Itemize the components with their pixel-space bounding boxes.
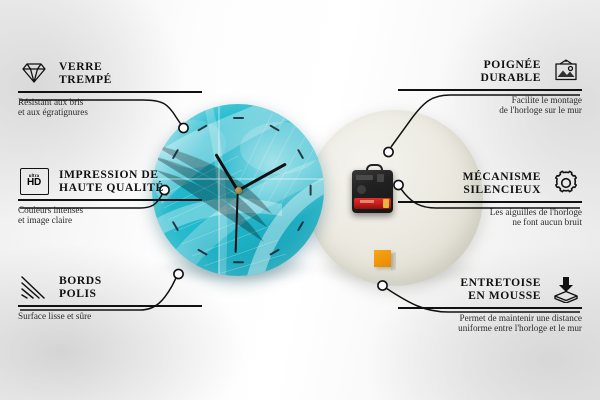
feature-title-line2: POLIS [59,287,97,300]
feature-bords-polis: BORDS POLIS Surface lisse et sûre [18,272,202,321]
feature-description: Permet de maintenir une distance uniform… [398,313,582,334]
feature-title: BORDS POLIS [59,274,202,300]
feature-header: ultra HD IMPRESSION DE HAUTE QUALITÉ [18,166,202,196]
feature-title: MÉCANISME SILENCIEUX [398,170,541,196]
feature-desc-line1: Surface lisse et sûre [18,311,91,321]
feature-desc-line2: uniforme entre l'horloge et le mur [458,323,582,333]
ultra-hd-icon: ultra HD [18,166,50,196]
feature-header: VERRE TREMPÉ [18,58,202,88]
feature-rule [18,91,202,93]
feature-title-line1: BORDS [59,274,102,287]
feature-title: ENTRETOISE EN MOUSSE [398,276,541,302]
feature-title: IMPRESSION DE HAUTE QUALITÉ [59,168,202,194]
feature-desc-line2: de l'horloge sur le mur [499,105,582,115]
connector-dot-6 [378,281,387,290]
feature-desc-line2: ne font aucun bruit [512,217,582,227]
feature-title-line1: IMPRESSION DE [59,168,159,181]
ultra-hd-badge-main: HD [27,178,41,188]
feature-desc-line1: Les aiguilles de l'horloge [490,207,582,217]
feature-title-line1: VERRE [59,60,102,73]
feature-description: Couleurs intenses et image claire [18,205,202,226]
feature-title-line2: TREMPÉ [59,73,112,86]
feature-rule [398,89,582,91]
feature-desc-line2: et aux égratignures [18,107,88,117]
connector-dot-4 [384,147,393,156]
feature-title-line1: POIGNÉE [484,58,541,71]
feature-desc-line1: Couleurs intenses [18,205,83,215]
feature-desc-line1: Permet de maintenir une distance [460,313,582,323]
feature-desc-line1: Facilite le montage [512,95,582,105]
feature-title-line2: HAUTE QUALITÉ [59,181,164,194]
feature-description: Facilite le montage de l'horloge sur le … [398,95,582,116]
feature-mecanisme-silencieux: MÉCANISME SILENCIEUX Les aiguilles de l'… [398,168,582,228]
feature-rule [18,199,202,201]
feature-title-line1: MÉCANISME [463,170,541,183]
feature-header: BORDS POLIS [18,272,202,302]
feature-desc-line1: Résistant aux bris [18,97,83,107]
feature-title-line2: DURABLE [480,71,541,84]
feature-impression-haute-qualite: ultra HD IMPRESSION DE HAUTE QUALITÉ Cou… [18,166,202,226]
ultra-hd-badge: ultra HD [20,168,49,195]
gear-icon [550,168,582,198]
feature-description: Surface lisse et sûre [18,311,202,322]
feature-rule [398,307,582,309]
feature-rule [398,201,582,203]
polished-edge-icon [18,272,50,302]
diamond-icon [18,58,50,88]
connector-dot-1 [179,123,188,132]
feature-title-line1: ENTRETOISE [460,276,541,289]
feature-header: ENTRETOISE EN MOUSSE [398,274,582,304]
feature-title: POIGNÉE DURABLE [398,58,541,84]
feature-title-line2: EN MOUSSE [468,289,541,302]
feature-header: MÉCANISME SILENCIEUX [398,168,582,198]
feature-description: Résistant aux bris et aux égratignures [18,97,202,118]
feature-header: POIGNÉE DURABLE [398,56,582,86]
feature-verre-trempe: VERRE TREMPÉ Résistant aux bris et aux é… [18,58,202,118]
feature-description: Les aiguilles de l'horloge ne font aucun… [398,207,582,228]
feature-desc-line2: et image claire [18,215,72,225]
feature-entretoise-en-mousse: ENTRETOISE EN MOUSSE Permet de maintenir… [398,274,582,334]
foam-spacer-icon [550,274,582,304]
hanging-frame-icon [550,56,582,86]
product-infographic: VERRE TREMPÉ Résistant aux bris et aux é… [0,0,600,400]
feature-rule [18,305,202,307]
feature-title: VERRE TREMPÉ [59,60,202,86]
feature-poignee-durable: POIGNÉE DURABLE Facilite le montage de l… [398,56,582,116]
feature-title-line2: SILENCIEUX [463,183,541,196]
